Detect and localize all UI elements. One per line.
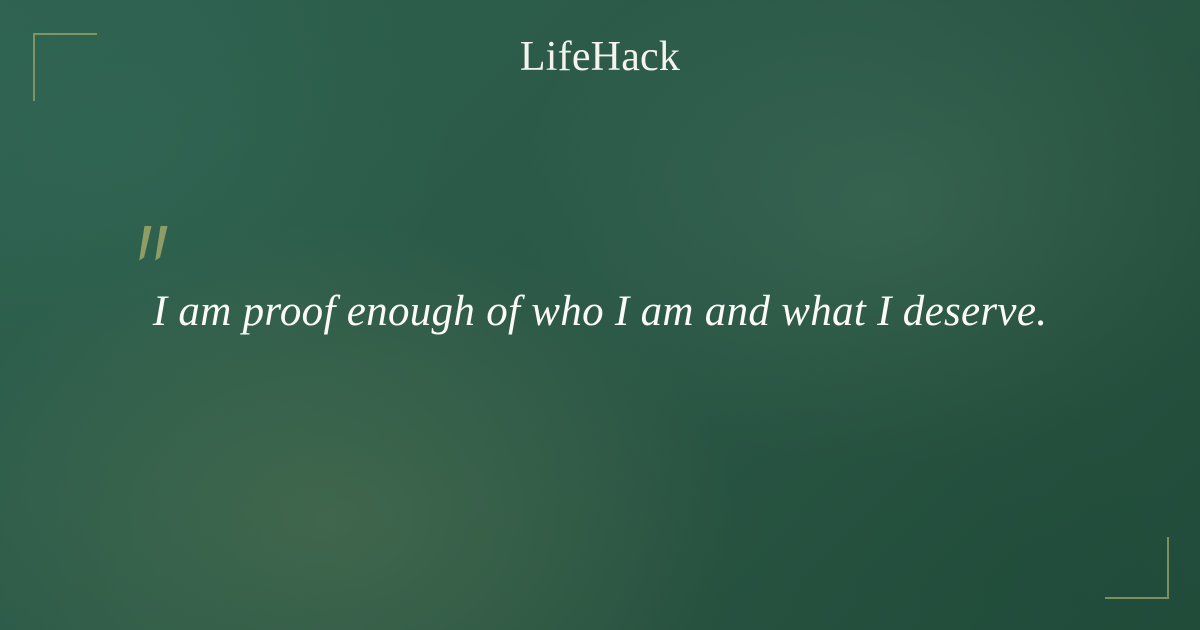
quote-mark-glyph xyxy=(131,224,181,272)
lifehack-logo: LifeHack xyxy=(520,36,680,78)
quote-text: I am proof enough of who I am and what I… xyxy=(153,286,1048,338)
quote-block: I am proof enough of who I am and what I… xyxy=(0,286,1200,338)
corner-bracket-icon-bottom-right xyxy=(1105,537,1169,599)
brand-header: LifeHack xyxy=(0,36,1200,78)
quote-mark-icon xyxy=(131,224,181,272)
quote-card: LifeHack I am proof enough of who I am a… xyxy=(0,0,1200,630)
